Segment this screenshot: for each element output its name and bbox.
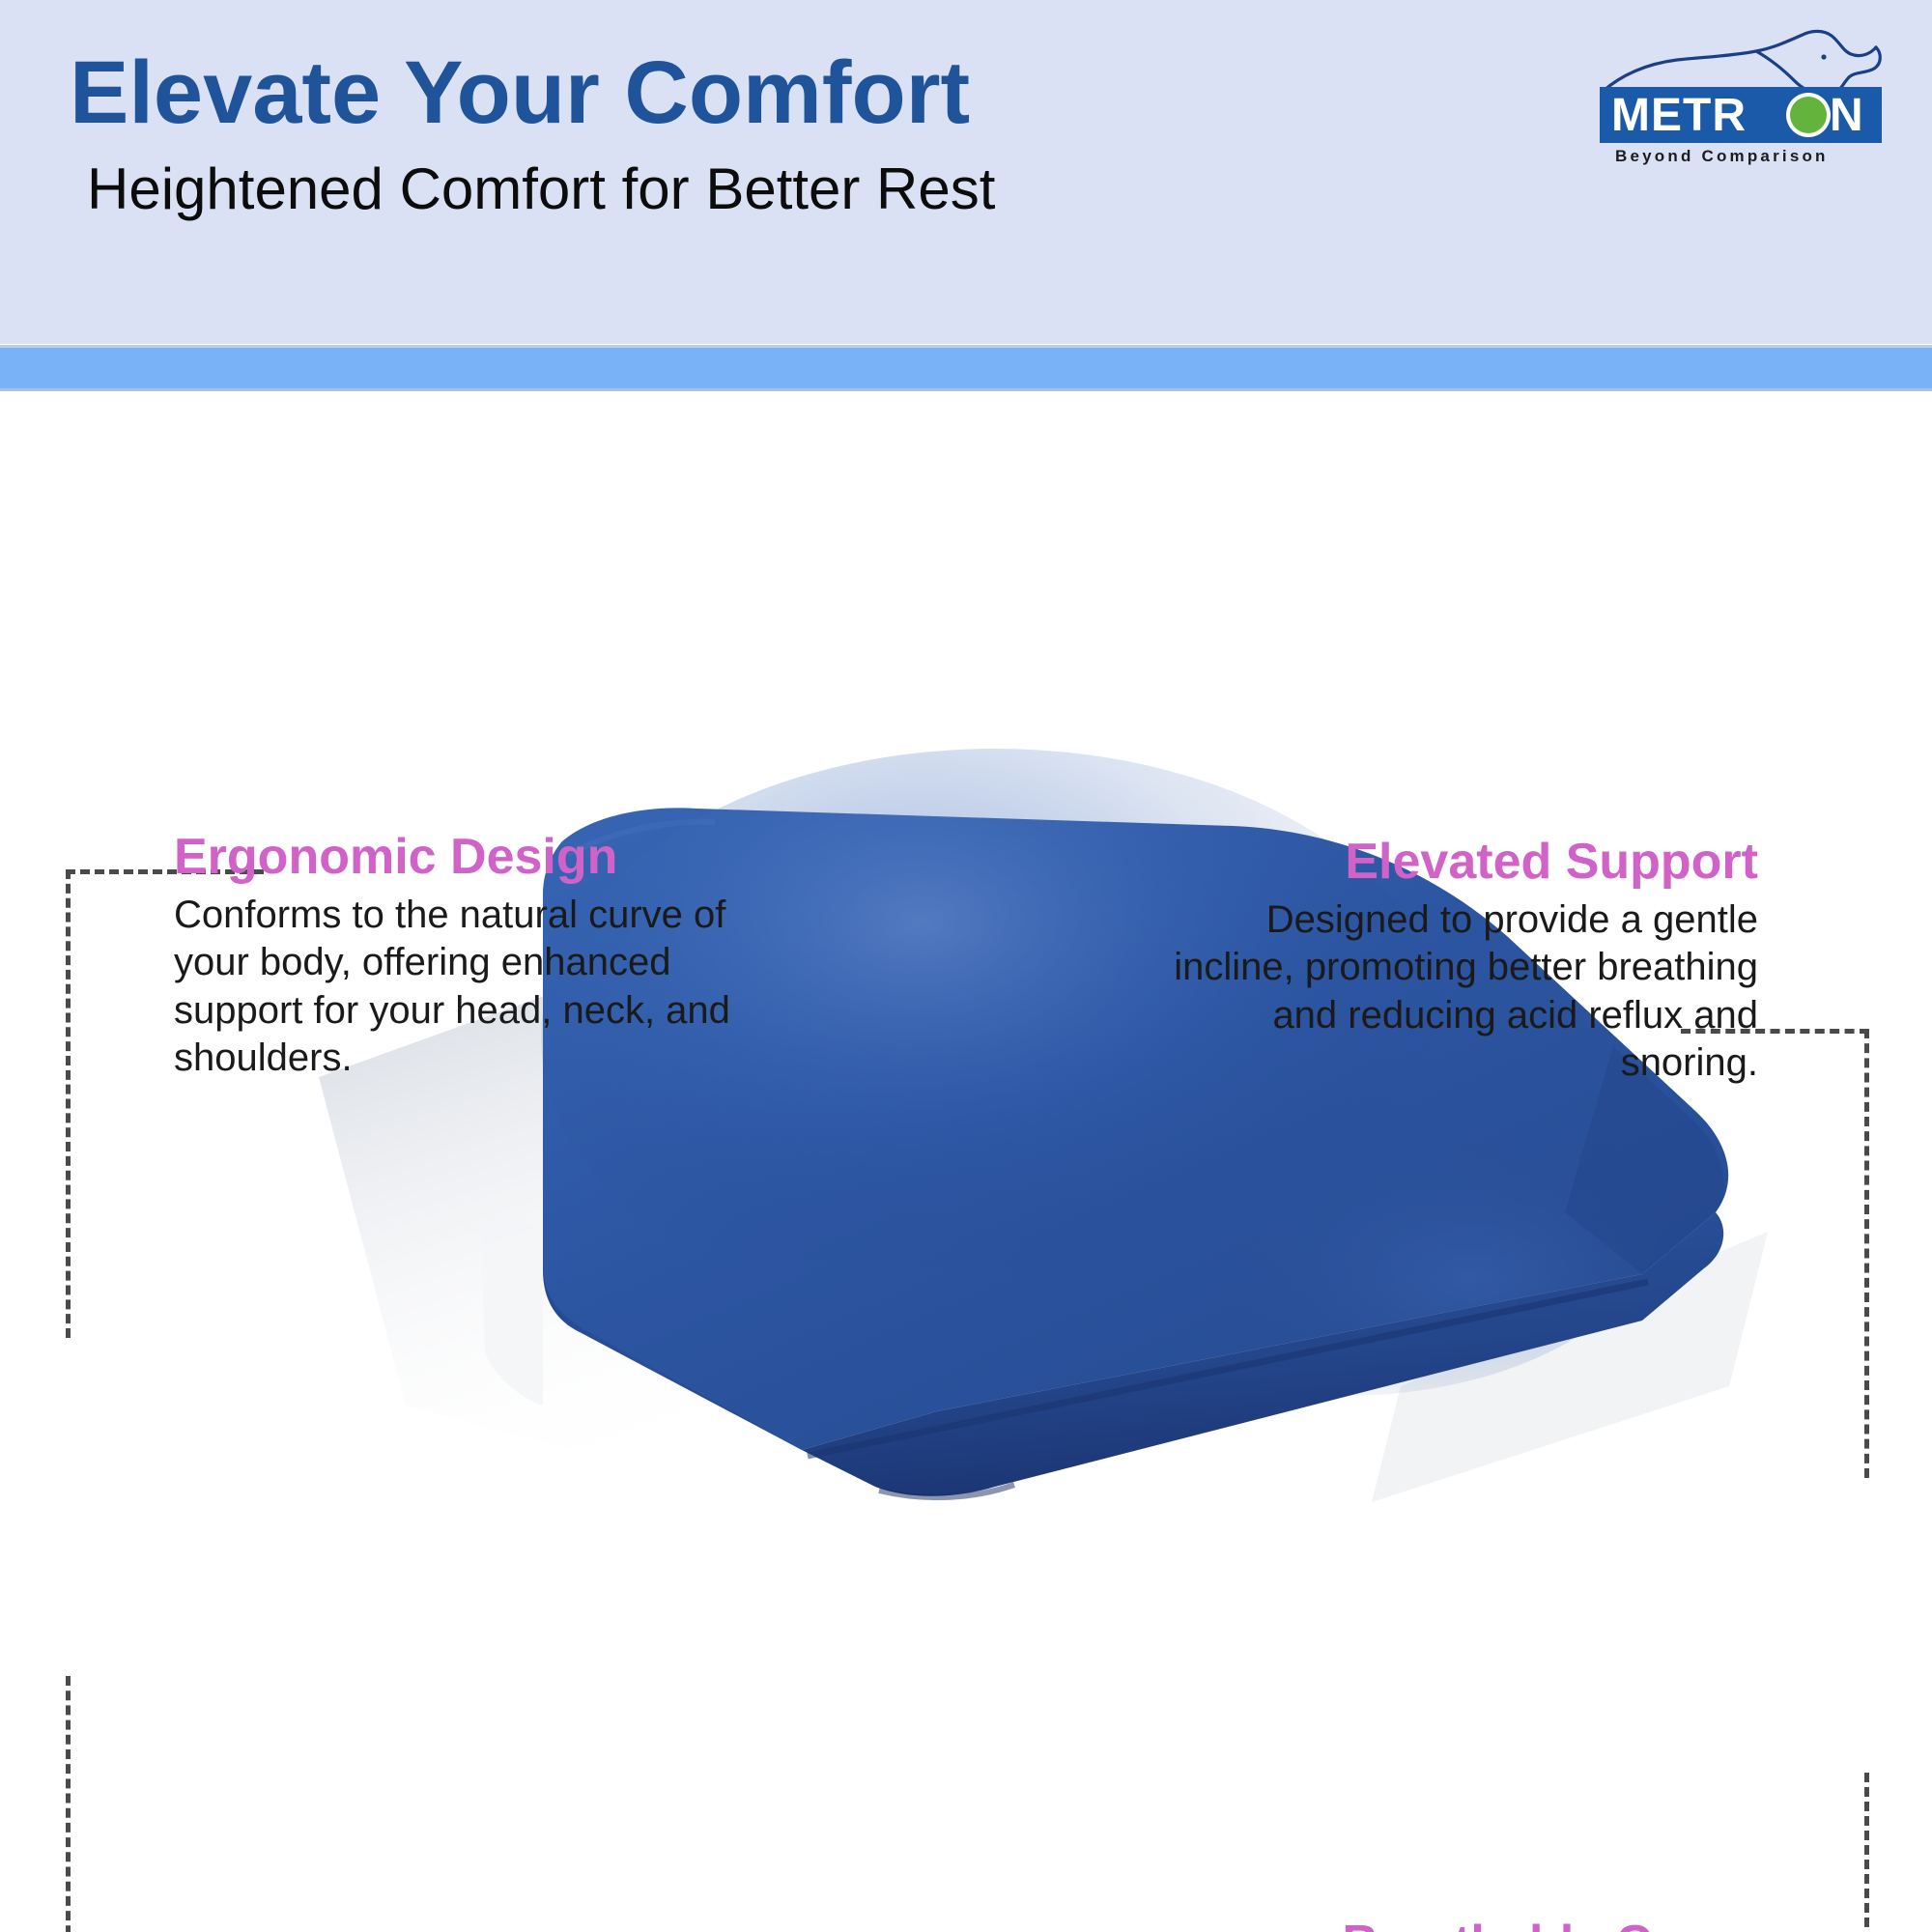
- feature-title: Breathable Cover: [1082, 1918, 1758, 1932]
- feature-high-quality-foam: High-Quality Foam Made from premium, hig…: [174, 1927, 889, 1932]
- brand-logo: METR N Beyond Comparison: [1596, 21, 1886, 166]
- feature-title: Elevated Support: [1140, 836, 1758, 889]
- feature-title: Ergonomic Design: [174, 831, 792, 884]
- connector-bracket-top-right: [1681, 1029, 1869, 1478]
- header-band: Elevate Your Comfort Heightened Comfort …: [0, 0, 1932, 344]
- page-title: Elevate Your Comfort: [70, 46, 1519, 140]
- feature-breathable-cover: Breathable Cover Features a breathable, …: [1082, 1918, 1758, 1932]
- svg-text:N: N: [1830, 90, 1864, 141]
- connector-bracket-bottom-left: [66, 1676, 264, 1932]
- accent-stripe: [0, 345, 1932, 391]
- product-infographic: Elevate Your Comfort Heightened Comfort …: [0, 0, 1932, 1932]
- connector-bracket-bottom-right: [1681, 1773, 1869, 1932]
- svg-text:METR: METR: [1611, 90, 1747, 141]
- logo-tagline: Beyond Comparison: [1615, 147, 1829, 165]
- header-text-group: Elevate Your Comfort Heightened Comfort …: [70, 46, 1519, 221]
- feature-body: Designed to provide a gentle incline, pr…: [1140, 896, 1758, 1088]
- feature-elevated-support: Elevated Support Designed to provide a g…: [1140, 836, 1758, 1088]
- feature-ergonomic-design: Ergonomic Design Conforms to the natural…: [174, 831, 792, 1083]
- reclining-person-icon: [1604, 31, 1880, 93]
- feature-body: Conforms to the natural curve of your bo…: [174, 892, 792, 1083]
- feature-title: High-Quality Foam: [174, 1927, 889, 1932]
- product-stage: Ergonomic Design Conforms to the natural…: [0, 391, 1932, 1932]
- page-subtitle: Heightened Comfort for Better Rest: [87, 157, 1519, 221]
